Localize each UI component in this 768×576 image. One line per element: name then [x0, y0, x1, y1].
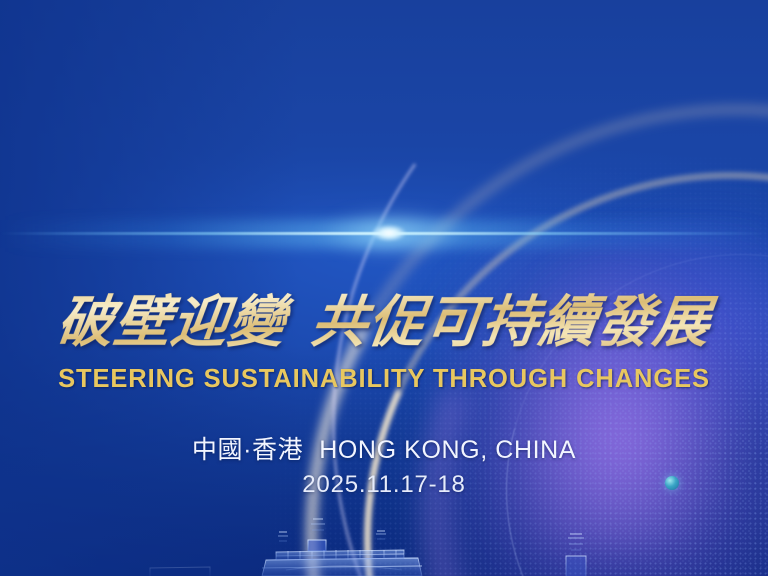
slogan-chinese-part1: 破壁迎變 — [53, 289, 289, 355]
poster-year: 2025 — [0, 10, 768, 106]
event-location-en: HONG KONG, CHINA — [319, 436, 576, 464]
slogan-chinese: 破壁迎變共促可持續發展 — [0, 289, 768, 355]
event-location-cn: 中國·香港 — [192, 436, 303, 464]
event-location: 中國·香港HONG KONG, CHINA — [0, 435, 768, 465]
wireframe-harbour-illustration — [0, 490, 768, 576]
slogan-english: STEERING SUSTAINABILITY THROUGH CHANGES — [0, 364, 768, 394]
light-beam — [0, 214, 768, 254]
page-title: 世界航商大会 — [0, 103, 768, 207]
light-beam-core — [372, 225, 406, 241]
harbour-svg — [0, 490, 768, 576]
slogan-chinese-part2: 共促可持續發展 — [307, 289, 714, 355]
conference-poster: 2025 世界航商大会 破壁迎變共促可持續發展 STEERING SUSTAIN… — [0, 0, 768, 576]
